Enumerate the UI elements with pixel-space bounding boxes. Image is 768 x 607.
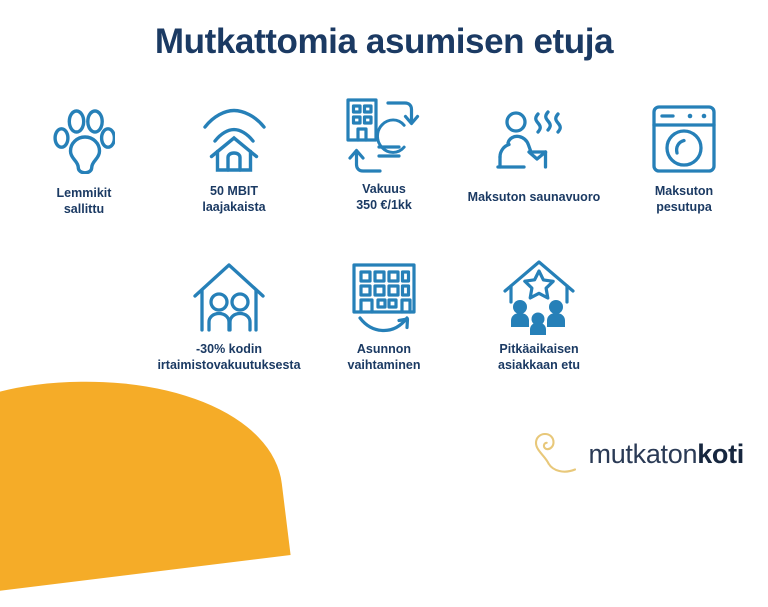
paw-print-icon <box>53 102 115 180</box>
benefit-item-deposit: Vakuus 350 €/1kk <box>309 98 459 213</box>
benefit-label: Asunnon vaihtaminen <box>348 342 421 373</box>
benefit-item-laundry: Maksuton pesutupa <box>609 98 759 215</box>
benefit-item-apartment-swap: Asunnon vaihtaminen <box>307 258 462 373</box>
amber-decorative-shape <box>0 357 291 607</box>
benefit-label: Lemmikit sallittu <box>57 186 112 217</box>
benefits-row-top: Lemmikit sallittu 50 MBIT laajakaista <box>0 98 768 217</box>
benefit-label: Vakuus 350 €/1kk <box>356 182 412 213</box>
building-euro-exchange-icon <box>342 98 426 176</box>
benefit-label: Maksuton saunavuoro <box>468 190 601 206</box>
logo-wordmark: mutkatonkoti <box>589 441 744 468</box>
benefit-label: Pitkäaikaisen asiakkaan etu <box>498 342 580 373</box>
star-roof-people-icon <box>500 258 578 336</box>
page-title: Mutkattomia asumisen etuja <box>0 22 768 62</box>
benefit-item-pets: Lemmikit sallittu <box>9 98 159 217</box>
benefit-label: 50 MBIT laajakaista <box>202 184 265 215</box>
apartment-swap-icon <box>347 258 421 336</box>
wifi-house-icon <box>198 100 270 178</box>
logo-text-bold: koti <box>697 439 744 469</box>
house-family-icon <box>189 258 269 336</box>
swirl-heart-icon <box>531 429 583 480</box>
benefit-label: Maksuton pesutupa <box>655 184 713 215</box>
benefits-row-bottom: -30% kodin irtaimistovakuutuksesta <box>0 258 768 373</box>
benefit-label: -30% kodin irtaimistovakuutuksesta <box>144 342 314 373</box>
benefit-item-sauna: Maksuton saunavuoro <box>459 98 609 206</box>
brand-logo[interactable]: mutkatonkoti <box>531 429 744 480</box>
washing-machine-icon <box>649 100 719 178</box>
logo-text-light: mutkaton <box>589 439 698 469</box>
benefit-item-broadband: 50 MBIT laajakaista <box>159 98 309 215</box>
sauna-person-icon <box>494 106 574 184</box>
benefit-item-insurance: -30% kodin irtaimistovakuutuksesta <box>152 258 307 373</box>
benefit-item-loyalty: Pitkäaikaisen asiakkaan etu <box>462 258 617 373</box>
